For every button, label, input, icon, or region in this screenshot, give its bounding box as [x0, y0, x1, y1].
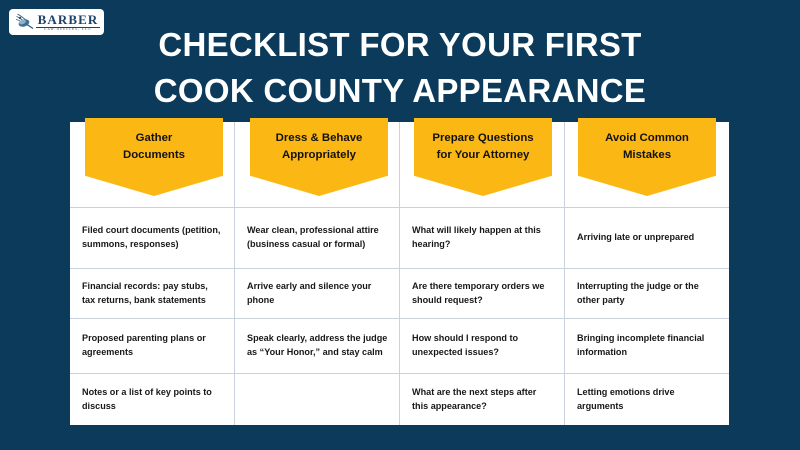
table-cell: Speak clearly, address the judge as “You…	[235, 318, 399, 373]
table-cell: Arriving late or unprepared	[565, 207, 729, 268]
column-header-line-2: Documents	[123, 149, 185, 161]
column-header-line-2: for Your Attorney	[437, 149, 530, 161]
column-header-line-1: Dress & Behave	[276, 132, 363, 144]
table-cell: Arrive early and silence your phone	[235, 268, 399, 318]
table-cell: Letting emotions drive arguments	[565, 373, 729, 425]
table-cell: Notes or a list of key points to discuss	[70, 373, 234, 425]
table-cell: Wear clean, professional attire (busines…	[235, 207, 399, 268]
column-header-line-1: Prepare Questions	[432, 132, 533, 144]
column-header-line-1: Gather	[136, 132, 173, 144]
table-cell: Bringing incomplete financial informatio…	[565, 318, 729, 373]
table-cell: Interrupting the judge or the other part…	[565, 268, 729, 318]
table-cell	[235, 373, 399, 425]
table-cell: How should I respond to unexpected issue…	[400, 318, 564, 373]
page-title: CHECKLIST FOR YOUR FIRST COOK COUNTY APP…	[0, 22, 800, 113]
table-cell: Filed court documents (petition, summons…	[70, 207, 234, 268]
table-cell: Financial records: pay stubs, tax return…	[70, 268, 234, 318]
page-title-line-1: CHECKLIST FOR YOUR FIRST	[0, 22, 800, 68]
column-header-line-2: Mistakes	[623, 149, 671, 161]
table-cell: What will likely happen at this hearing?	[400, 207, 564, 268]
table-cell: Proposed parenting plans or agreements	[70, 318, 234, 373]
column-header-line-1: Avoid Common	[605, 132, 689, 144]
column-header-line-2: Appropriately	[282, 149, 356, 161]
table-cell: What are the next steps after this appea…	[400, 373, 564, 425]
table-cell: Are there temporary orders we should req…	[400, 268, 564, 318]
page-title-line-2: COOK COUNTY APPEARANCE	[0, 68, 800, 114]
